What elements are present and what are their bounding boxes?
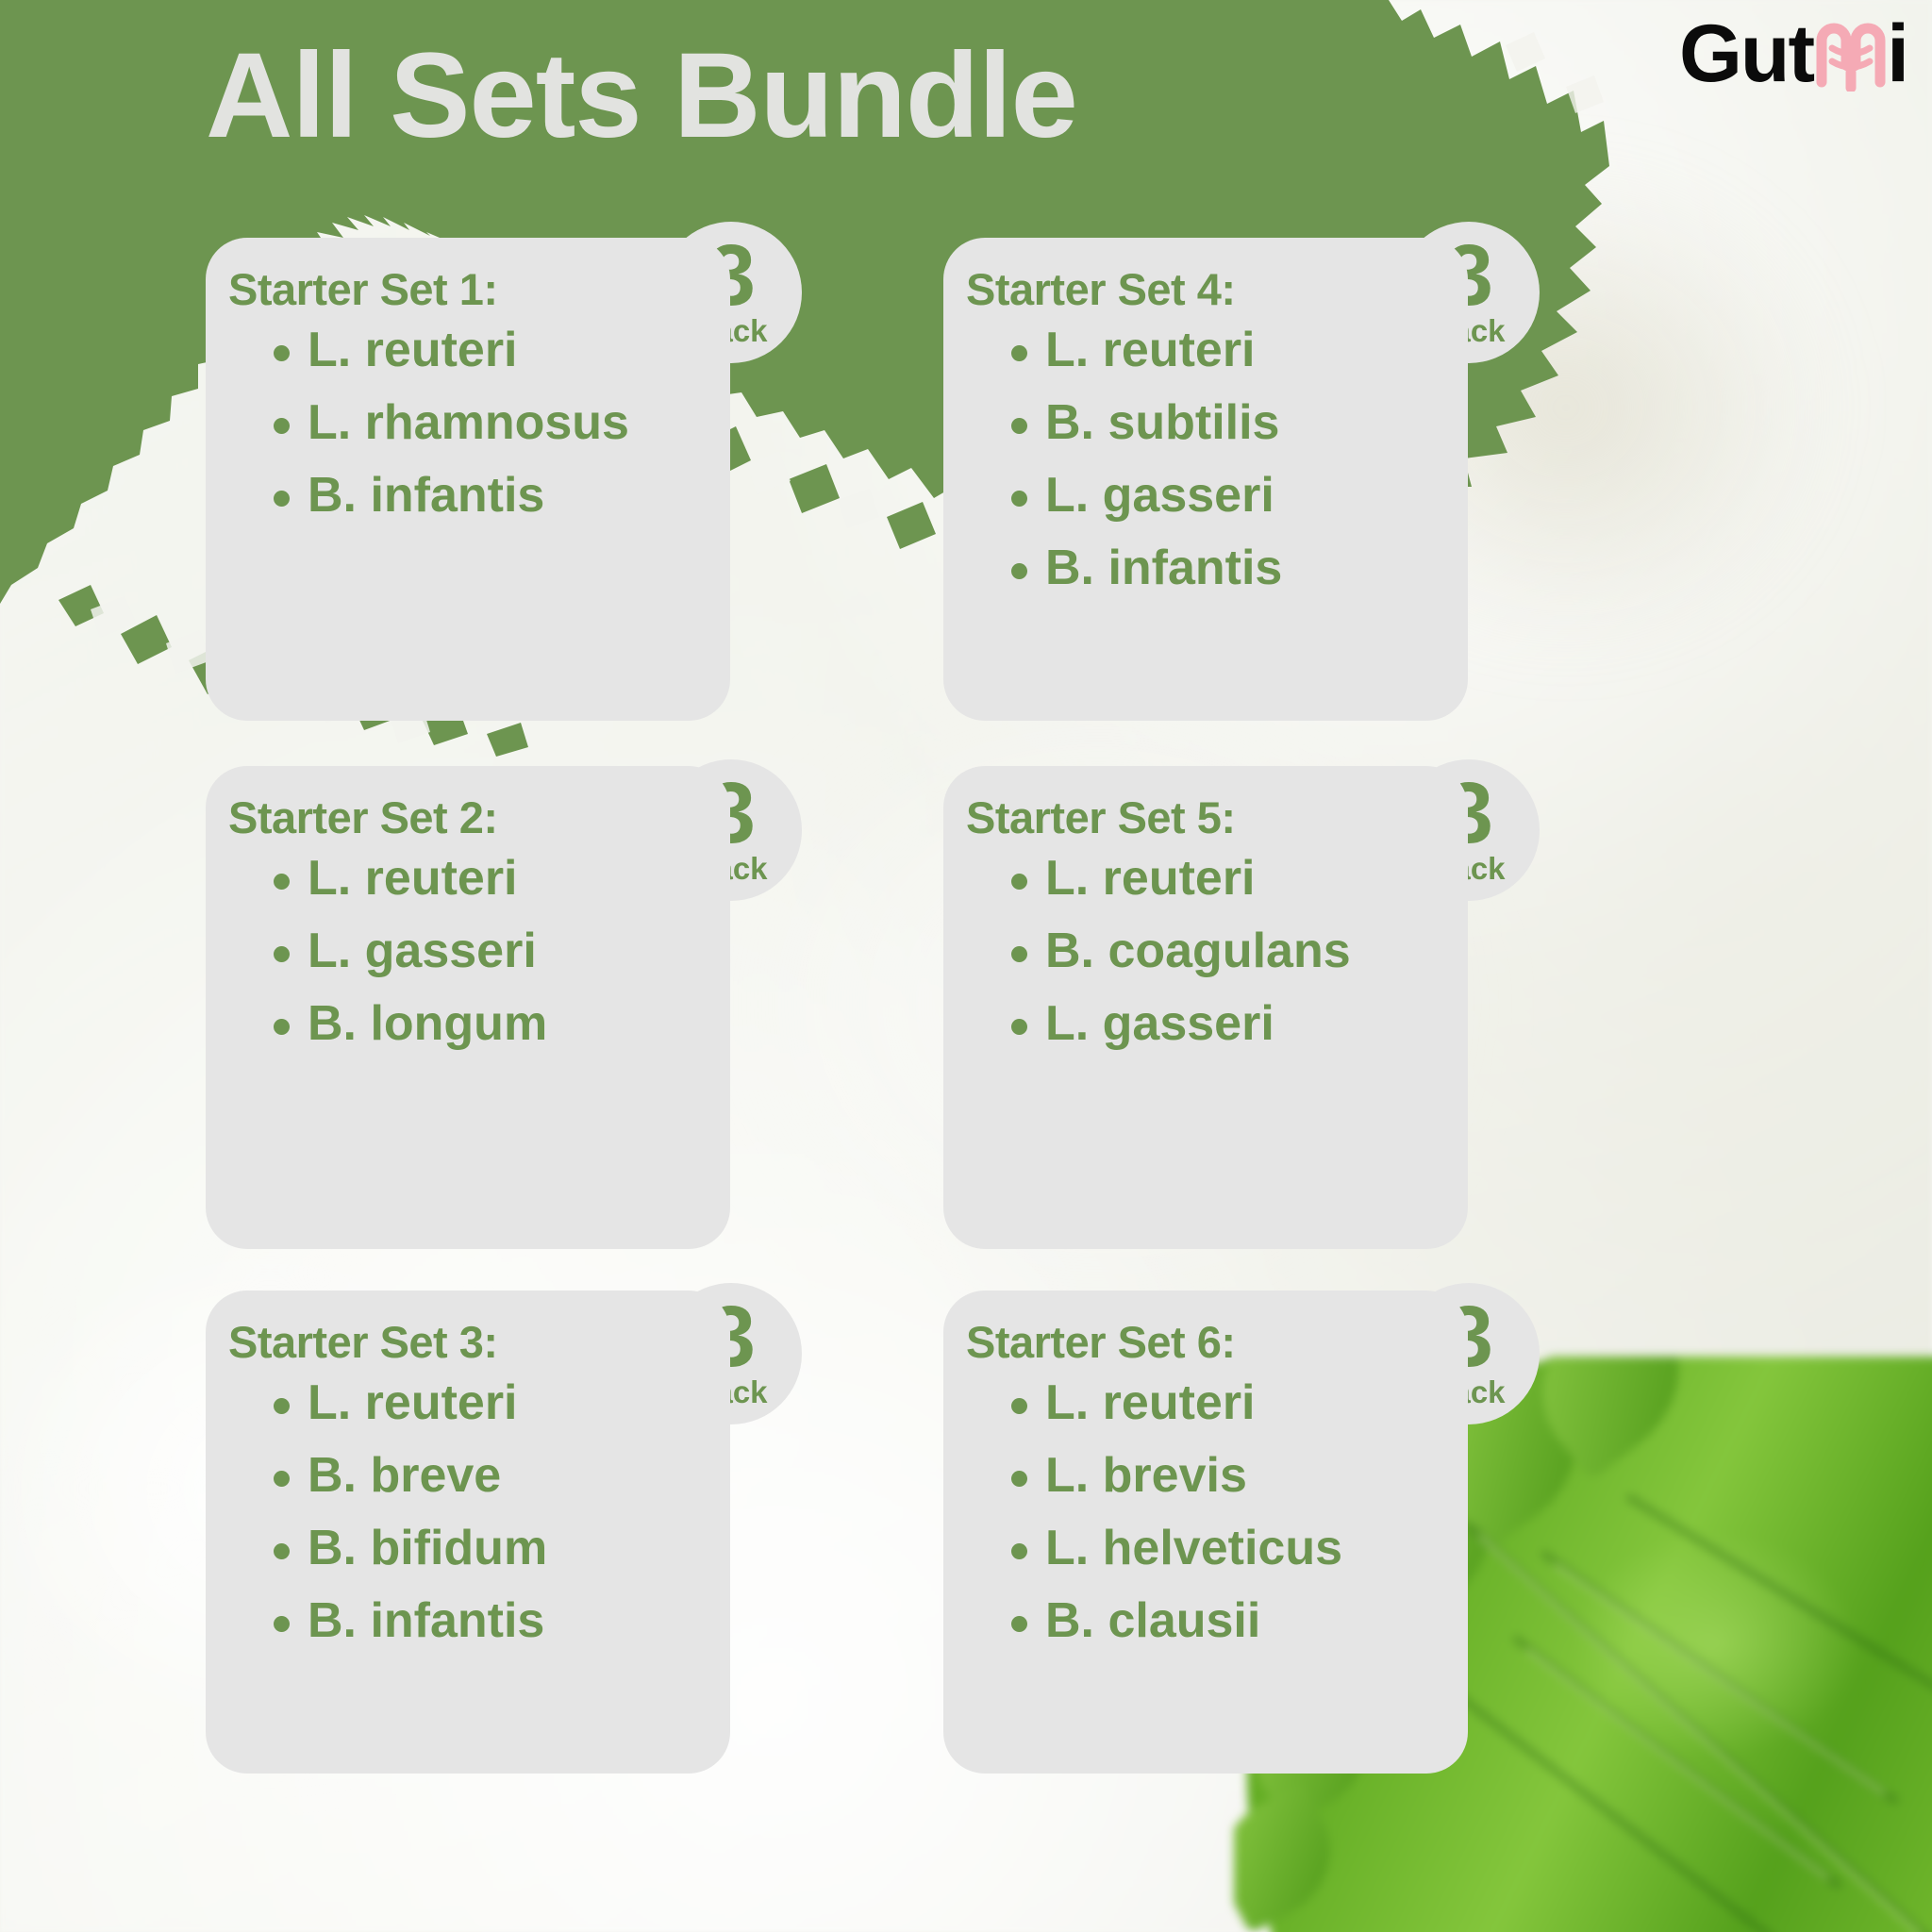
strain-item: L. gasseri xyxy=(1006,999,1430,1048)
strain-item: L. rhamnosus xyxy=(268,398,692,447)
strain-item: L. gasseri xyxy=(268,926,692,975)
set-title: Starter Set 3: xyxy=(228,1319,692,1365)
strain-item: L. reuteri xyxy=(1006,854,1430,903)
strain-item: L. gasseri xyxy=(1006,471,1430,520)
starter-set-card-3[interactable]: Starter Set 3: L. reuteri B. breve B. bi… xyxy=(206,1291,730,1774)
starter-set-card-6[interactable]: Starter Set 6: L. reuteri L. brevis L. h… xyxy=(943,1291,1468,1774)
set-title: Starter Set 1: xyxy=(228,266,692,312)
strain-list: L. reuteri B. breve B. bifidum B. infant… xyxy=(268,1378,692,1645)
strain-list: L. reuteri L. rhamnosus B. infantis xyxy=(268,325,692,520)
strain-item: L. reuteri xyxy=(268,854,692,903)
strain-list: L. reuteri L. gasseri B. longum xyxy=(268,854,692,1048)
strain-item: B. subtilis xyxy=(1006,398,1430,447)
strain-item: B. clausii xyxy=(1006,1596,1430,1645)
brand-word-left: Gut xyxy=(1679,13,1813,94)
intestine-icon xyxy=(1811,16,1890,92)
strain-item: B. bifidum xyxy=(268,1524,692,1573)
set-title: Starter Set 6: xyxy=(966,1319,1430,1365)
set-title: Starter Set 5: xyxy=(966,794,1430,841)
strain-item: B. longum xyxy=(268,999,692,1048)
brand-logo: Gut i xyxy=(1679,13,1907,94)
strain-item: L. reuteri xyxy=(268,325,692,375)
strain-item: L. reuteri xyxy=(268,1378,692,1427)
strain-item: B. infantis xyxy=(268,471,692,520)
strain-item: B. coagulans xyxy=(1006,926,1430,975)
strain-item: L. reuteri xyxy=(1006,1378,1430,1427)
strain-list: L. reuteri L. brevis L. helveticus B. cl… xyxy=(1006,1378,1430,1645)
strain-item: B. breve xyxy=(268,1451,692,1500)
starter-set-card-5[interactable]: Starter Set 5: L. reuteri B. coagulans L… xyxy=(943,766,1468,1249)
poster-canvas: All Sets Bundle Gut i 3 Pack xyxy=(0,0,1932,1932)
strain-item: L. helveticus xyxy=(1006,1524,1430,1573)
set-title: Starter Set 4: xyxy=(966,266,1430,312)
strain-item: L. brevis xyxy=(1006,1451,1430,1500)
starter-set-card-1[interactable]: Starter Set 1: L. reuteri L. rhamnosus B… xyxy=(206,238,730,721)
starter-set-card-2[interactable]: Starter Set 2: L. reuteri L. gasseri B. … xyxy=(206,766,730,1249)
strain-list: L. reuteri B. subtilis L. gasseri B. inf… xyxy=(1006,325,1430,592)
page-title: All Sets Bundle xyxy=(206,36,1077,157)
strain-item: L. reuteri xyxy=(1006,325,1430,375)
set-title: Starter Set 2: xyxy=(228,794,692,841)
strain-list: L. reuteri B. coagulans L. gasseri xyxy=(1006,854,1430,1048)
strain-item: B. infantis xyxy=(268,1596,692,1645)
strain-item: B. infantis xyxy=(1006,543,1430,592)
starter-set-card-4[interactable]: Starter Set 4: L. reuteri B. subtilis L.… xyxy=(943,238,1468,721)
